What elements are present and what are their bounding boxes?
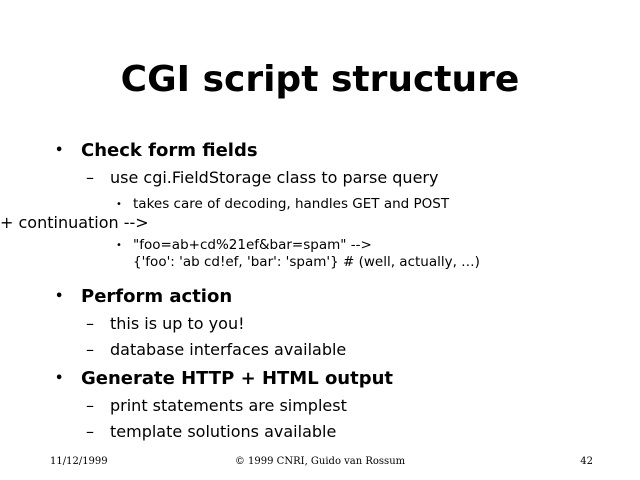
bullet-dash-icon: – <box>86 314 94 333</box>
bullet-text: template solutions available <box>110 422 336 441</box>
bullet-text: print statements are simplest <box>110 396 347 415</box>
bullet-text-continuation: {'foo': 'ab cd!ef, 'bar': 'spam'} # (wel… <box>133 254 640 271</box>
bullet-text: "foo=ab+cd%21ef&bar=spam" --> <box>133 237 372 253</box>
footer-copyright: © 1999 CNRI, Guido van Rossum <box>0 455 640 469</box>
bullet-dot-icon: • <box>55 140 63 161</box>
bullet-level3: • "foo=ab+cd%21ef&bar=spam" --> {'foo': … <box>116 237 640 271</box>
bullet-text: this is up to you! <box>110 314 245 333</box>
bullet-dot-icon: • <box>55 368 63 389</box>
bullet-text: Check form fields <box>81 140 258 161</box>
bullet-level1: • Generate HTTP + HTML output <box>55 368 640 389</box>
bullet-text: use cgi.FieldStorage class to parse quer… <box>110 168 438 187</box>
bullet-level1: • Perform action <box>55 286 640 307</box>
bullet-level1: • Check form fields <box>55 140 640 161</box>
bullet-list: • Check form fields – use cgi.FieldStora… <box>0 140 640 441</box>
slide: CGI script structure • Check form fields… <box>0 0 640 480</box>
bullet-dot-icon: • <box>55 286 63 307</box>
bullet-level3: • takes care of decoding, handles GET an… <box>116 196 640 213</box>
bullet-text: database interfaces available <box>110 340 346 359</box>
bullet-dot-icon: • <box>116 196 122 213</box>
bullet-level2: – template solutions available <box>86 422 640 441</box>
bullet-dash-icon: – <box>86 422 94 441</box>
bullet-dash-icon: – <box>86 396 94 415</box>
bullet-level2: – print statements are simplest <box>86 396 640 415</box>
bullet-text: takes care of decoding, handles GET and … <box>133 196 449 212</box>
bullet-dash-icon: – <box>86 340 94 359</box>
bullet-level2: – database interfaces available <box>86 340 640 359</box>
bullet-dot-icon: • <box>116 237 122 254</box>
bullet-dash-icon: – <box>86 168 94 187</box>
bullet-level2: – this is up to you! <box>86 314 640 333</box>
bullet-text: Perform action <box>81 286 232 307</box>
bullet-level2: – use cgi.FieldStorage class to parse qu… <box>86 168 640 187</box>
page-title: CGI script structure <box>0 58 640 102</box>
slide-footer: 11/12/1999 © 1999 CNRI, Guido van Rossum… <box>0 455 640 471</box>
bullet-text: Generate HTTP + HTML output <box>81 368 393 389</box>
footer-page-number: 42 <box>580 455 593 469</box>
